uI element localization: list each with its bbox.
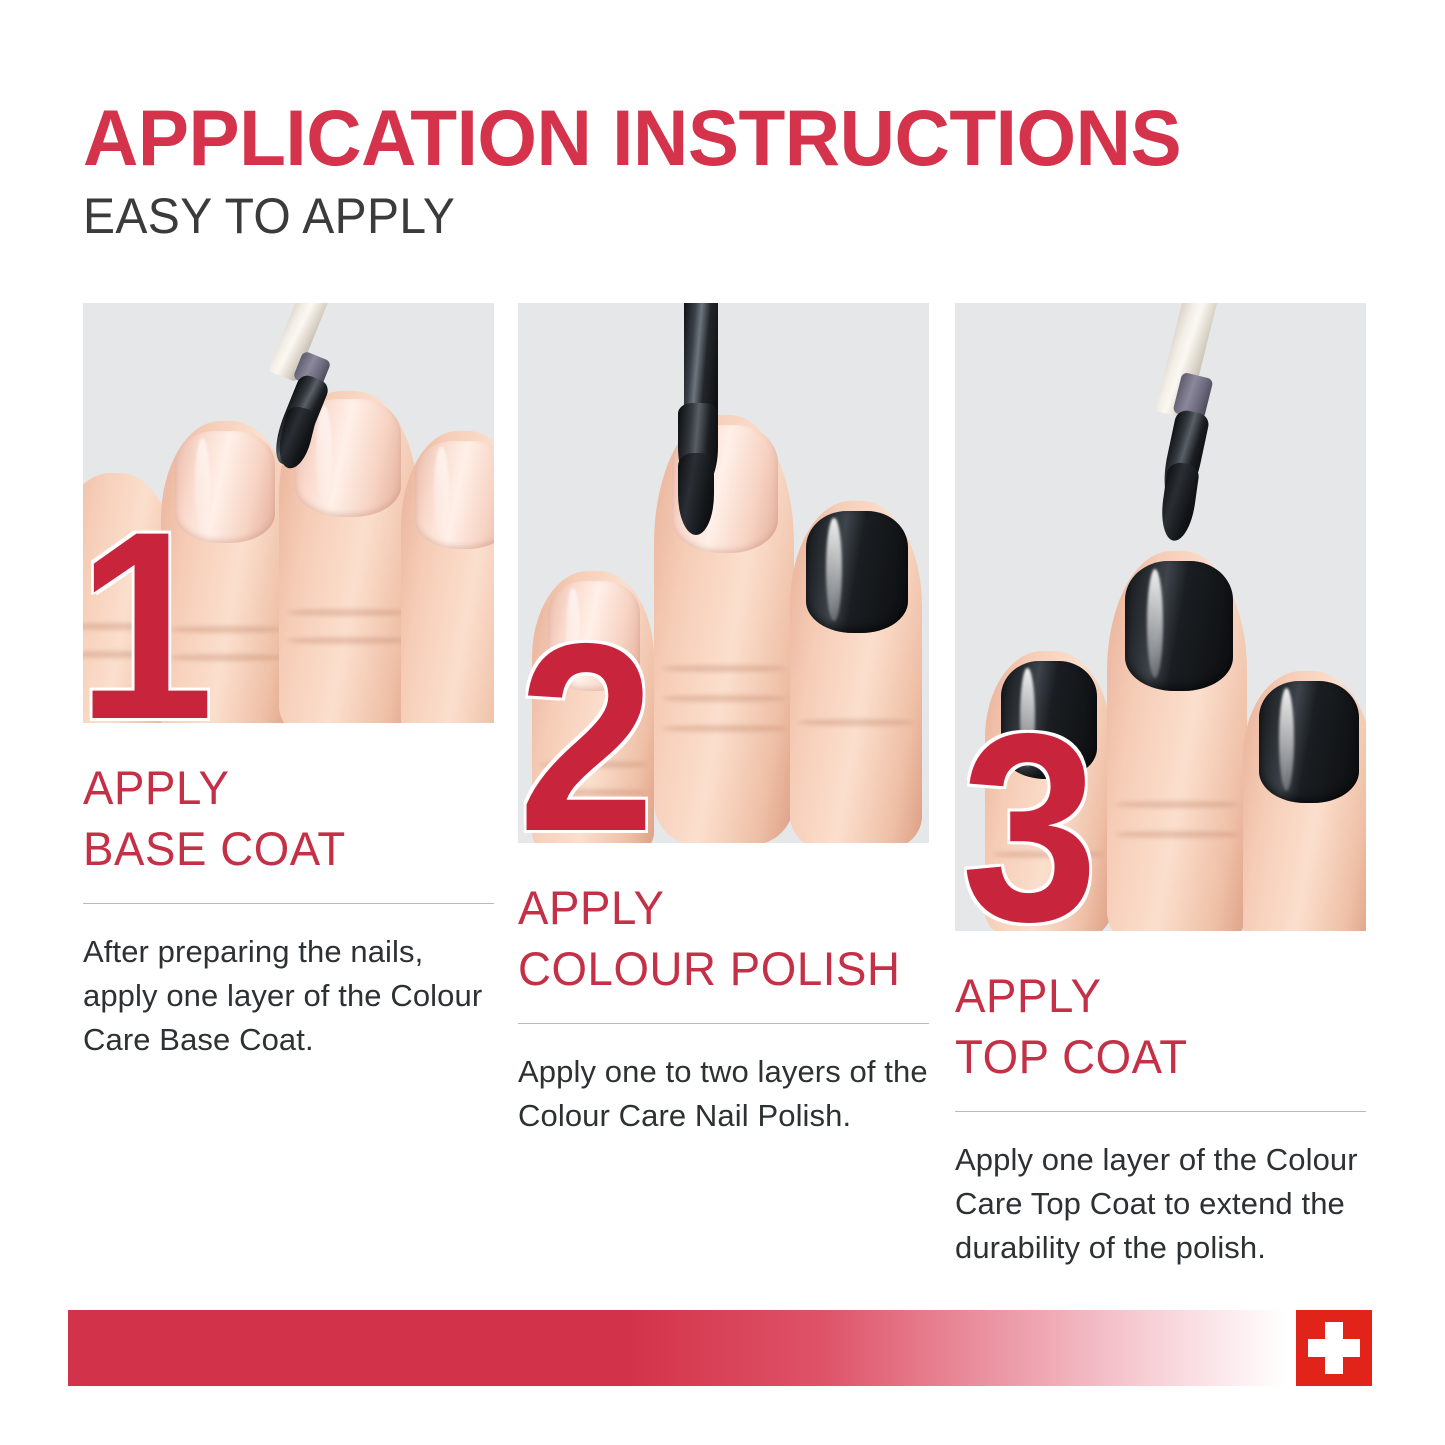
step-3-heading-line-2: TOP COAT: [955, 1026, 1355, 1087]
step-2-divider: [518, 1023, 929, 1024]
knuckle: [287, 609, 408, 616]
nail-shine: [826, 518, 841, 620]
step-2-photo: 2: [518, 303, 929, 843]
fingernail-painted: [806, 511, 908, 633]
header: APPLICATION INSTRUCTIONS EASY TO APPLY: [83, 98, 1383, 241]
nail-shine: [566, 588, 580, 680]
finger-left: [532, 571, 654, 843]
page-title: APPLICATION INSTRUCTIONS: [83, 98, 1344, 177]
knuckle: [662, 665, 785, 672]
fingernail-bare: [548, 581, 640, 691]
nail-shine: [434, 447, 448, 538]
footer-gradient-bar: [68, 1310, 1286, 1386]
knuckle: [662, 695, 785, 702]
step-2-description: Apply one to two layers of the Colour Ca…: [518, 1050, 929, 1138]
nail-shine: [1147, 569, 1163, 678]
hand-illustration-2: [518, 303, 929, 843]
step-2: 2 APPLY COLOUR POLISH Apply one to two l…: [518, 303, 930, 1138]
step-1-divider: [83, 903, 494, 904]
nail-shine: [195, 438, 210, 532]
infographic-page: APPLICATION INSTRUCTIONS EASY TO APPLY: [0, 0, 1445, 1445]
step-2-heading-line-1: APPLY: [518, 877, 918, 938]
hand-illustration-3: [955, 303, 1366, 931]
fingernail: [175, 431, 275, 543]
hand-illustration-1: [83, 303, 494, 723]
nail-shine: [316, 406, 332, 505]
finger: [401, 431, 494, 723]
step-3-photo: 3: [955, 303, 1366, 931]
knuckle: [83, 651, 168, 658]
finger-center: [1107, 551, 1247, 931]
knuckle: [539, 789, 646, 796]
step-1-heading: APPLY BASE COAT: [83, 757, 495, 879]
step-3-heading: APPLY TOP COAT: [955, 965, 1367, 1087]
step-3-divider: [955, 1111, 1366, 1112]
knuckle: [287, 637, 408, 644]
knuckle: [539, 761, 646, 768]
step-3: 3 APPLY TOP COAT Apply one layer of the …: [955, 303, 1367, 1270]
knuckle: [1115, 801, 1238, 808]
knuckle: [169, 654, 283, 661]
fingernail-target: [1125, 561, 1233, 691]
knuckle: [83, 623, 168, 630]
swiss-cross-icon: [1296, 1310, 1372, 1386]
knuckle: [169, 626, 283, 633]
step-1-description: After preparing the nails, apply one lay…: [83, 930, 494, 1062]
fingernail-painted: [1001, 661, 1097, 779]
knuckle: [993, 851, 1104, 858]
finger-right: [790, 501, 922, 843]
polish-stroke: [678, 453, 714, 535]
step-1-photo: 1: [83, 303, 494, 723]
step-2-heading-line-2: COLOUR POLISH: [518, 938, 918, 999]
finger-right: [1243, 671, 1366, 931]
nail-shine: [1279, 688, 1294, 790]
knuckle: [798, 719, 914, 726]
knuckle: [662, 725, 785, 732]
finger-left: [985, 651, 1111, 931]
cross-horizontal-bar: [1308, 1339, 1360, 1356]
finger-center: [654, 415, 794, 843]
page-subtitle: EASY TO APPLY: [83, 191, 1331, 241]
knuckle: [1115, 831, 1238, 838]
step-3-heading-line-1: APPLY: [955, 965, 1355, 1026]
step-2-heading: APPLY COLOUR POLISH: [518, 877, 930, 999]
finger: [161, 421, 291, 723]
step-3-description: Apply one layer of the Colour Care Top C…: [955, 1138, 1366, 1270]
step-1-heading-line-1: APPLY: [83, 757, 483, 818]
step-1-heading-line-2: BASE COAT: [83, 818, 483, 879]
step-1: 1 APPLY BASE COAT After preparing the na…: [83, 303, 495, 1062]
nail-shine: [1020, 668, 1034, 767]
fingernail: [415, 441, 494, 549]
fingernail-painted: [1259, 681, 1359, 803]
